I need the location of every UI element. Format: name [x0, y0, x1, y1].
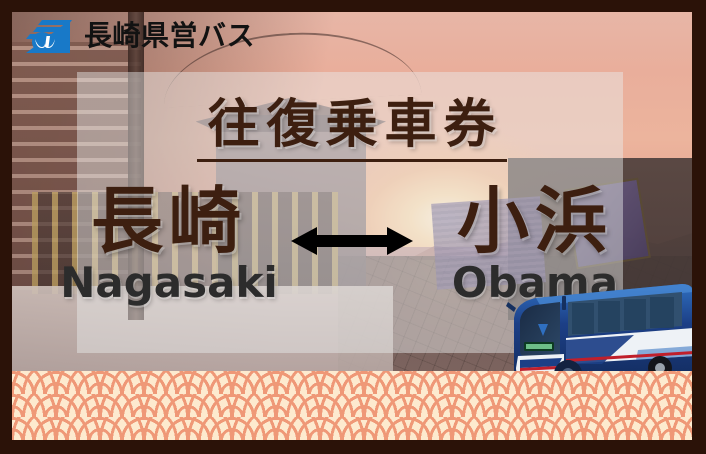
nagasaki-bus-wing-logo-icon: [20, 16, 76, 56]
route-arrow-cell: [287, 184, 417, 258]
origin-stop: 長崎 Nagasaki: [51, 184, 287, 304]
seigaiha-wave-pattern: [12, 371, 692, 440]
ticket-title: 往復乗車券: [197, 98, 506, 162]
ticket-inner: 長崎県営バス 往復乗車券 長崎 Nagasaki 小浜 Obama: [12, 12, 692, 440]
ticket-title-wrap: 往復乗車券: [12, 98, 692, 162]
origin-name-en: Nagasaki: [51, 262, 287, 304]
ticket-card: 長崎県営バス 往復乗車券 長崎 Nagasaki 小浜 Obama: [0, 0, 706, 454]
origin-name-jp: 長崎: [51, 184, 287, 260]
header: 長崎県営バス: [20, 16, 255, 56]
destination-name-jp: 小浜: [417, 184, 653, 260]
brand-name: 長崎県営バス: [84, 22, 255, 50]
double-headed-arrow-icon: [291, 224, 413, 258]
